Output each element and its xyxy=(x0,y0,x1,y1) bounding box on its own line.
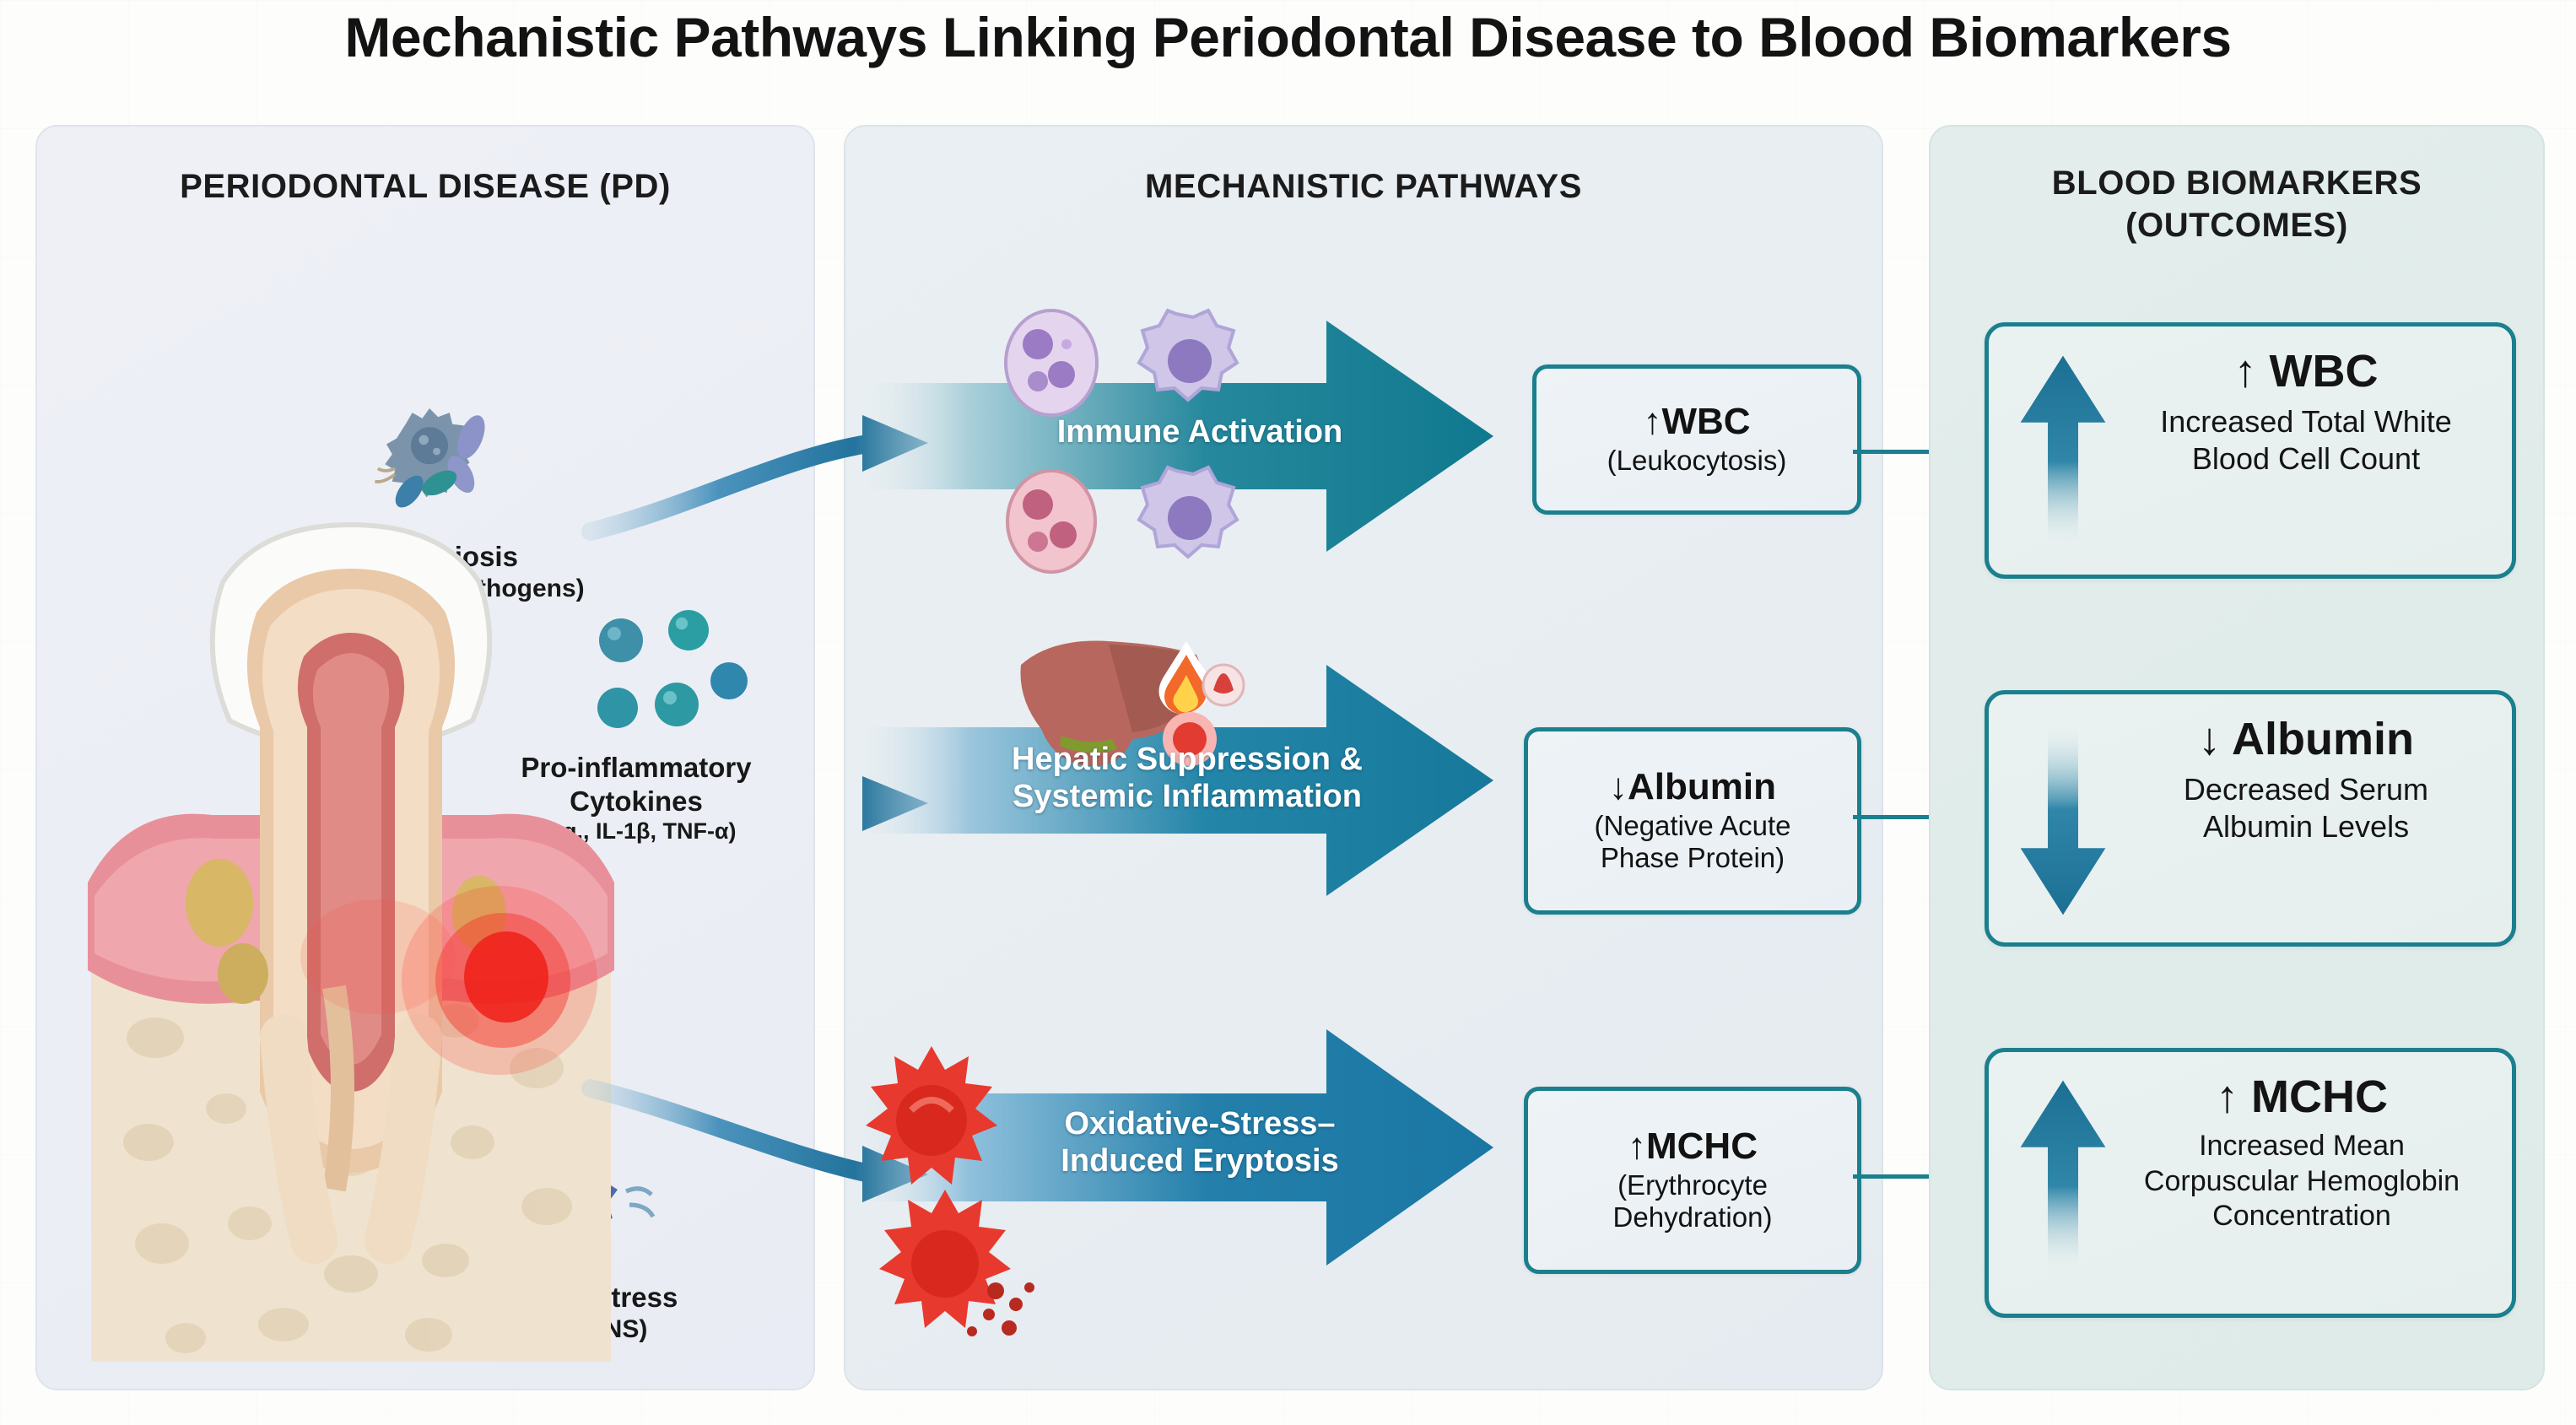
badge-mchc-sub-line2: Dehydration) xyxy=(1613,1201,1773,1233)
panel-heading-mechanistic-pathways: MECHANISTIC PATHWAYS xyxy=(845,165,1882,208)
pathway-label-line2: Systemic Inflammation xyxy=(1013,779,1362,814)
outcome-card-albumin: ↓ Albumin Decreased Serum Albumin Levels xyxy=(1985,690,2516,947)
outcome-desc-line2: Albumin Levels xyxy=(2203,809,2409,844)
pathway-label-eryptosis: Oxidative-Stress– Induced Eryptosis xyxy=(980,1105,1419,1179)
pathway-arrow-immune-activation: Immune Activation xyxy=(854,314,1495,559)
badge-mchc-sub-line1: (Erythrocyte xyxy=(1617,1169,1768,1201)
outcome-desc-albumin: Decreased Serum Albumin Levels xyxy=(2115,771,2497,845)
leukocyte-cells-icon-lower xyxy=(987,464,1240,574)
tooth-periodontium-illustration xyxy=(81,481,621,1367)
outcome-desc-line1: Increased Total White xyxy=(2160,404,2452,439)
eryptotic-erythrocyte-icon-lower xyxy=(871,1179,1056,1348)
outcome-desc-wbc: Increased Total White Blood Cell Count xyxy=(2115,403,2497,478)
outcome-title-albumin: ↓ Albumin xyxy=(2115,715,2497,764)
badge-albumin: ↓Albumin (Negative Acute Phase Protein) xyxy=(1524,727,1861,915)
leukocyte-cells-icon xyxy=(987,304,1240,422)
outcome-title-mchc: ↑ MCHC xyxy=(2107,1072,2497,1122)
outcome-title-wbc: ↑ WBC xyxy=(2115,347,2497,397)
outcome-desc-line1: Increased Mean xyxy=(2199,1130,2405,1162)
outcome-desc-line1: Decreased Serum xyxy=(2184,772,2428,807)
pathway-label-immune-activation: Immune Activation xyxy=(997,413,1402,451)
outcome-text-mchc: ↑ MCHC Increased Mean Corpuscular Hemogl… xyxy=(2107,1072,2497,1234)
badge-wbc: ↑WBC (Leukocytosis) xyxy=(1532,364,1861,515)
outcome-desc-line2: Blood Cell Count xyxy=(2192,441,2420,476)
outcome-desc-line2: Corpuscular Hemoglobin xyxy=(2144,1165,2460,1197)
panel-periodontal-disease: PERIODONTAL DISEASE (PD) Dysbiosis (Biof… xyxy=(35,125,815,1390)
badge-mchc-sub: (Erythrocyte Dehydration) xyxy=(1613,1169,1773,1233)
pathway-label-line1: Oxidative-Stress– xyxy=(1064,1106,1335,1142)
pathway-label-hepatic-suppression: Hepatic Suppression & Systemic Inflammat… xyxy=(938,741,1436,815)
pathway-arrow-hepatic-suppression: Hepatic Suppression & Systemic Inflammat… xyxy=(854,658,1495,903)
panel-heading-blood-biomarkers: BLOOD BIOMARKERS (OUTCOMES) xyxy=(1931,162,2543,247)
panel-heading-line2: (OUTCOMES) xyxy=(2125,207,2348,244)
outcome-card-mchc: ↑ MCHC Increased Mean Corpuscular Hemogl… xyxy=(1985,1048,2516,1318)
panel-heading-line1: BLOOD BIOMARKERS xyxy=(2052,165,2422,202)
up-arrow-icon xyxy=(2017,1071,2109,1282)
badge-albumin-main: ↓Albumin xyxy=(1609,768,1776,807)
page-title: Mechanistic Pathways Linking Periodontal… xyxy=(0,5,2576,69)
badge-albumin-sub-line1: (Negative Acute xyxy=(1595,810,1791,841)
outcome-text-wbc: ↑ WBC Increased Total White Blood Cell C… xyxy=(2115,347,2497,478)
badge-mchc: ↑MCHC (Erythrocyte Dehydration) xyxy=(1524,1087,1861,1274)
badge-wbc-main: ↑WBC xyxy=(1643,402,1750,442)
badge-mchc-main: ↑MCHC xyxy=(1628,1127,1758,1167)
badge-wbc-sub: (Leukocytosis) xyxy=(1607,445,1787,477)
badge-albumin-sub-line2: Phase Protein) xyxy=(1601,842,1785,873)
pathway-label-line2: Induced Eryptosis xyxy=(1061,1143,1338,1179)
badge-albumin-sub: (Negative Acute Phase Protein) xyxy=(1595,810,1791,874)
pathway-arrow-eryptosis: Oxidative-Stress– Induced Eryptosis xyxy=(854,1021,1495,1274)
up-arrow-icon xyxy=(2017,352,2109,551)
panel-heading-periodontal-disease: PERIODONTAL DISEASE (PD) xyxy=(37,165,813,208)
outcome-desc-mchc: Increased Mean Corpuscular Hemoglobin Co… xyxy=(2107,1129,2497,1233)
down-arrow-icon xyxy=(2017,720,2109,919)
pathway-label-line1: Hepatic Suppression & xyxy=(1012,742,1363,777)
outcome-desc-line3: Concentration xyxy=(2212,1200,2391,1232)
outcome-card-wbc: ↑ WBC Increased Total White Blood Cell C… xyxy=(1985,322,2516,579)
outcome-text-albumin: ↓ Albumin Decreased Serum Albumin Levels xyxy=(2115,715,2497,845)
